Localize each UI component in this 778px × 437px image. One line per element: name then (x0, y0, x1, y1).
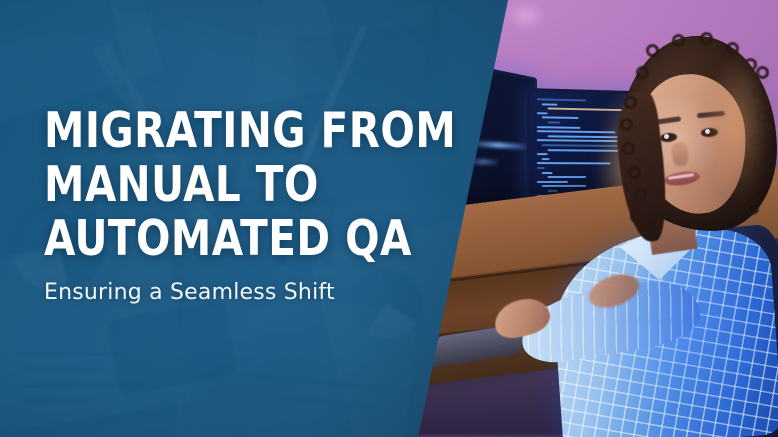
banner-title-line-1: MIGRATING FROM (44, 104, 430, 158)
blog-banner: MIGRATING FROM MANUAL TO AUTOMATED QA En… (0, 0, 778, 437)
banner-subtitle: Ensuring a Seamless Shift (44, 280, 464, 305)
banner-title-line-3: AUTOMATED QA (44, 212, 430, 266)
banner-title-line-2: MANUAL TO (44, 158, 430, 212)
banner-copy: MIGRATING FROM MANUAL TO AUTOMATED QA En… (44, 104, 464, 305)
